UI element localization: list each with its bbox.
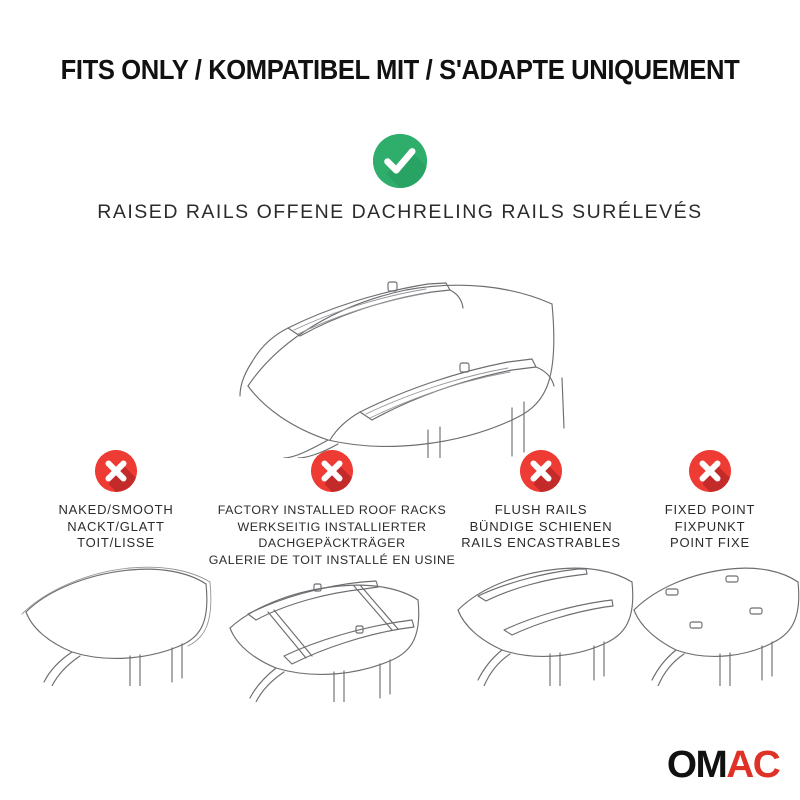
option-label: FIXED POINT FIXPUNKT POINT FIXE <box>620 502 800 552</box>
page-title: FITS ONLY / KOMPATIBEL MIT / S'ADAPTE UN… <box>28 54 772 86</box>
car-roof-raised-rails-illustration <box>160 268 650 458</box>
compatible-section: RAISED RAILS OFFENE DACHRELING RAILS SUR… <box>0 134 800 224</box>
option-fixed-point: FIXED POINT FIXPUNKT POINT FIXE <box>620 450 800 686</box>
incompatible-options-row: NAKED/SMOOTH NACKT/GLATT TOIT/LISSE <box>0 450 800 750</box>
car-roof-flush-rails-illustration <box>442 556 640 686</box>
option-flush-rails: FLUSH RAILS BÜNDIGE SCHIENEN RAILS ENCAS… <box>442 450 640 686</box>
option-label: FACTORY INSTALLED ROOF RACKS WERKSEITIG … <box>208 502 456 568</box>
option-label: NAKED/SMOOTH NACKT/GLATT TOIT/LISSE <box>2 502 230 552</box>
option-label: FLUSH RAILS BÜNDIGE SCHIENEN RAILS ENCAS… <box>442 502 640 552</box>
compatible-label: RAISED RAILS OFFENE DACHRELING RAILS SUR… <box>0 201 800 224</box>
x-circle-icon <box>311 450 353 492</box>
car-roof-fixed-point-illustration <box>620 556 800 686</box>
check-circle-icon <box>373 134 427 188</box>
logo-text-red: AC <box>726 744 779 786</box>
omac-logo: OMAC <box>667 746 779 784</box>
car-roof-naked-smooth-illustration <box>2 556 230 686</box>
option-naked-smooth: NAKED/SMOOTH NACKT/GLATT TOIT/LISSE <box>2 450 230 686</box>
logo-text-dark: OM <box>667 744 726 786</box>
car-roof-factory-racks-illustration <box>208 572 456 702</box>
x-circle-icon <box>520 450 562 492</box>
option-factory-roof-racks: FACTORY INSTALLED ROOF RACKS WERKSEITIG … <box>208 450 456 702</box>
x-circle-icon <box>95 450 137 492</box>
x-circle-icon <box>689 450 731 492</box>
